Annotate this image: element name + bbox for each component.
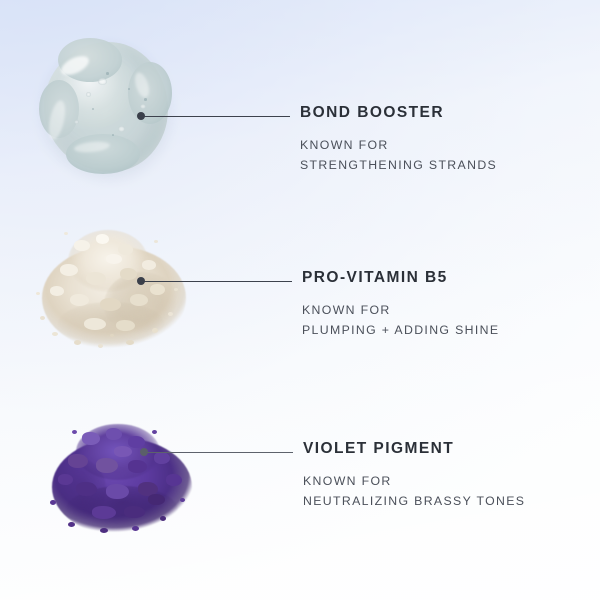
leader-line-violet-pigment bbox=[144, 452, 293, 453]
ingredient-known-for-label: KNOWN FOR bbox=[300, 136, 497, 156]
powder-grain-cluster-12 bbox=[116, 320, 135, 331]
ingredient-label-violet-pigment: VIOLET PIGMENT KNOWN FOR NEUTRALIZING BR… bbox=[303, 440, 525, 512]
violet-fleck-7 bbox=[72, 430, 77, 434]
violet-chunk-2 bbox=[106, 428, 122, 440]
ingredient-known-for-label: KNOWN FOR bbox=[302, 301, 499, 321]
violet-chunk-5 bbox=[96, 458, 118, 473]
gel-speck-e bbox=[92, 108, 94, 110]
gel-lobe-right bbox=[128, 62, 172, 124]
swatch-cream-powder bbox=[34, 228, 194, 356]
leader-line-pro-vitamin-b5 bbox=[141, 281, 292, 282]
violet-chunk-15 bbox=[114, 446, 132, 457]
violet-fleck-3 bbox=[100, 528, 108, 533]
powder-fleck-3 bbox=[74, 340, 81, 345]
gel-speck-d bbox=[112, 134, 114, 136]
ingredient-known-for-label: KNOWN FOR bbox=[303, 472, 525, 492]
leader-marker-violet-pigment bbox=[140, 448, 148, 456]
violet-chunk-9 bbox=[106, 484, 129, 499]
gel-speck-a bbox=[106, 72, 109, 75]
powder-fleck-9 bbox=[36, 292, 40, 295]
powder-fleck-1 bbox=[40, 316, 45, 320]
powder-fleck-2 bbox=[52, 332, 58, 336]
powder-fleck-8 bbox=[174, 288, 178, 291]
violet-chunk-14 bbox=[166, 474, 182, 486]
violet-chunk-11 bbox=[92, 506, 116, 519]
violet-chunk-12 bbox=[124, 506, 145, 518]
gel-bubble-c bbox=[140, 104, 146, 109]
ingredient-title: BOND BOOSTER bbox=[300, 104, 497, 121]
powder-grain-cluster-10 bbox=[130, 294, 148, 306]
violet-fleck-2 bbox=[68, 522, 75, 527]
gel-bubble-d bbox=[118, 126, 125, 132]
leader-marker-bond-booster bbox=[137, 112, 145, 120]
ingredient-label-bond-booster: BOND BOOSTER KNOWN FOR STRENGTHENING STR… bbox=[300, 104, 497, 176]
powder-grain-cluster-11 bbox=[84, 318, 106, 330]
ingredient-label-pro-vitamin-b5: PRO-VITAMIN B5 KNOWN FOR PLUMPING + ADDI… bbox=[302, 269, 499, 341]
leader-marker-pro-vitamin-b5 bbox=[137, 277, 145, 285]
gel-bubble-e bbox=[74, 120, 79, 124]
violet-fleck-6 bbox=[180, 498, 185, 502]
powder-fleck-6 bbox=[152, 328, 158, 333]
violet-fleck-8 bbox=[152, 430, 157, 434]
powder-grain-cluster-14 bbox=[150, 284, 165, 295]
powder-grain-cluster-7 bbox=[142, 260, 156, 270]
gel-lobe-bottom bbox=[66, 134, 140, 174]
powder-grain-cluster-15 bbox=[106, 254, 122, 264]
powder-fleck-7 bbox=[168, 312, 173, 316]
violet-chunk-16 bbox=[148, 494, 165, 505]
gel-bubble-b bbox=[86, 92, 91, 97]
gel-speck-b bbox=[128, 88, 130, 90]
leader-line-bond-booster bbox=[141, 116, 290, 117]
powder-grain-cluster-6 bbox=[120, 268, 137, 280]
violet-chunk-4 bbox=[68, 454, 88, 468]
powder-fleck-12 bbox=[110, 334, 114, 337]
violet-chunk-8 bbox=[76, 482, 97, 496]
violet-chunk-1 bbox=[82, 432, 100, 445]
ingredient-infographic: BOND BOOSTER KNOWN FOR STRENGTHENING STR… bbox=[0, 0, 600, 600]
violet-chunk-6 bbox=[128, 460, 147, 473]
powder-grain-cluster-2 bbox=[96, 234, 109, 244]
powder-fleck-5 bbox=[126, 340, 134, 345]
powder-fleck-11 bbox=[64, 232, 68, 235]
swatch-violet-pigment bbox=[48, 424, 198, 542]
powder-grain-cluster-8 bbox=[70, 294, 89, 306]
violet-chunk-13 bbox=[58, 474, 73, 485]
violet-chunk-3 bbox=[128, 436, 145, 448]
powder-fleck-10 bbox=[154, 240, 158, 243]
powder-fleck-4 bbox=[98, 344, 103, 348]
powder-grain-cluster-9 bbox=[100, 298, 121, 311]
gel-bubble-a bbox=[98, 78, 107, 85]
violet-fleck-1 bbox=[50, 500, 56, 505]
powder-grain-cluster-13 bbox=[50, 286, 64, 296]
ingredient-benefit: NEUTRALIZING BRASSY TONES bbox=[303, 492, 525, 512]
violet-chunk-7 bbox=[154, 452, 170, 464]
gel-speck-c bbox=[144, 98, 147, 101]
violet-fleck-4 bbox=[132, 526, 139, 531]
ingredient-title: VIOLET PIGMENT bbox=[303, 440, 525, 457]
powder-grain-cluster-3 bbox=[118, 244, 133, 255]
ingredient-benefit: STRENGTHENING STRANDS bbox=[300, 156, 497, 176]
violet-fleck-5 bbox=[160, 516, 166, 521]
powder-grain-cluster-1 bbox=[74, 240, 90, 251]
swatch-teal-gel-blob bbox=[44, 42, 168, 172]
ingredient-title: PRO-VITAMIN B5 bbox=[302, 269, 499, 286]
powder-grain-cluster-4 bbox=[60, 264, 78, 276]
ingredient-benefit: PLUMPING + ADDING SHINE bbox=[302, 321, 499, 341]
powder-grain-cluster-5 bbox=[86, 272, 106, 285]
